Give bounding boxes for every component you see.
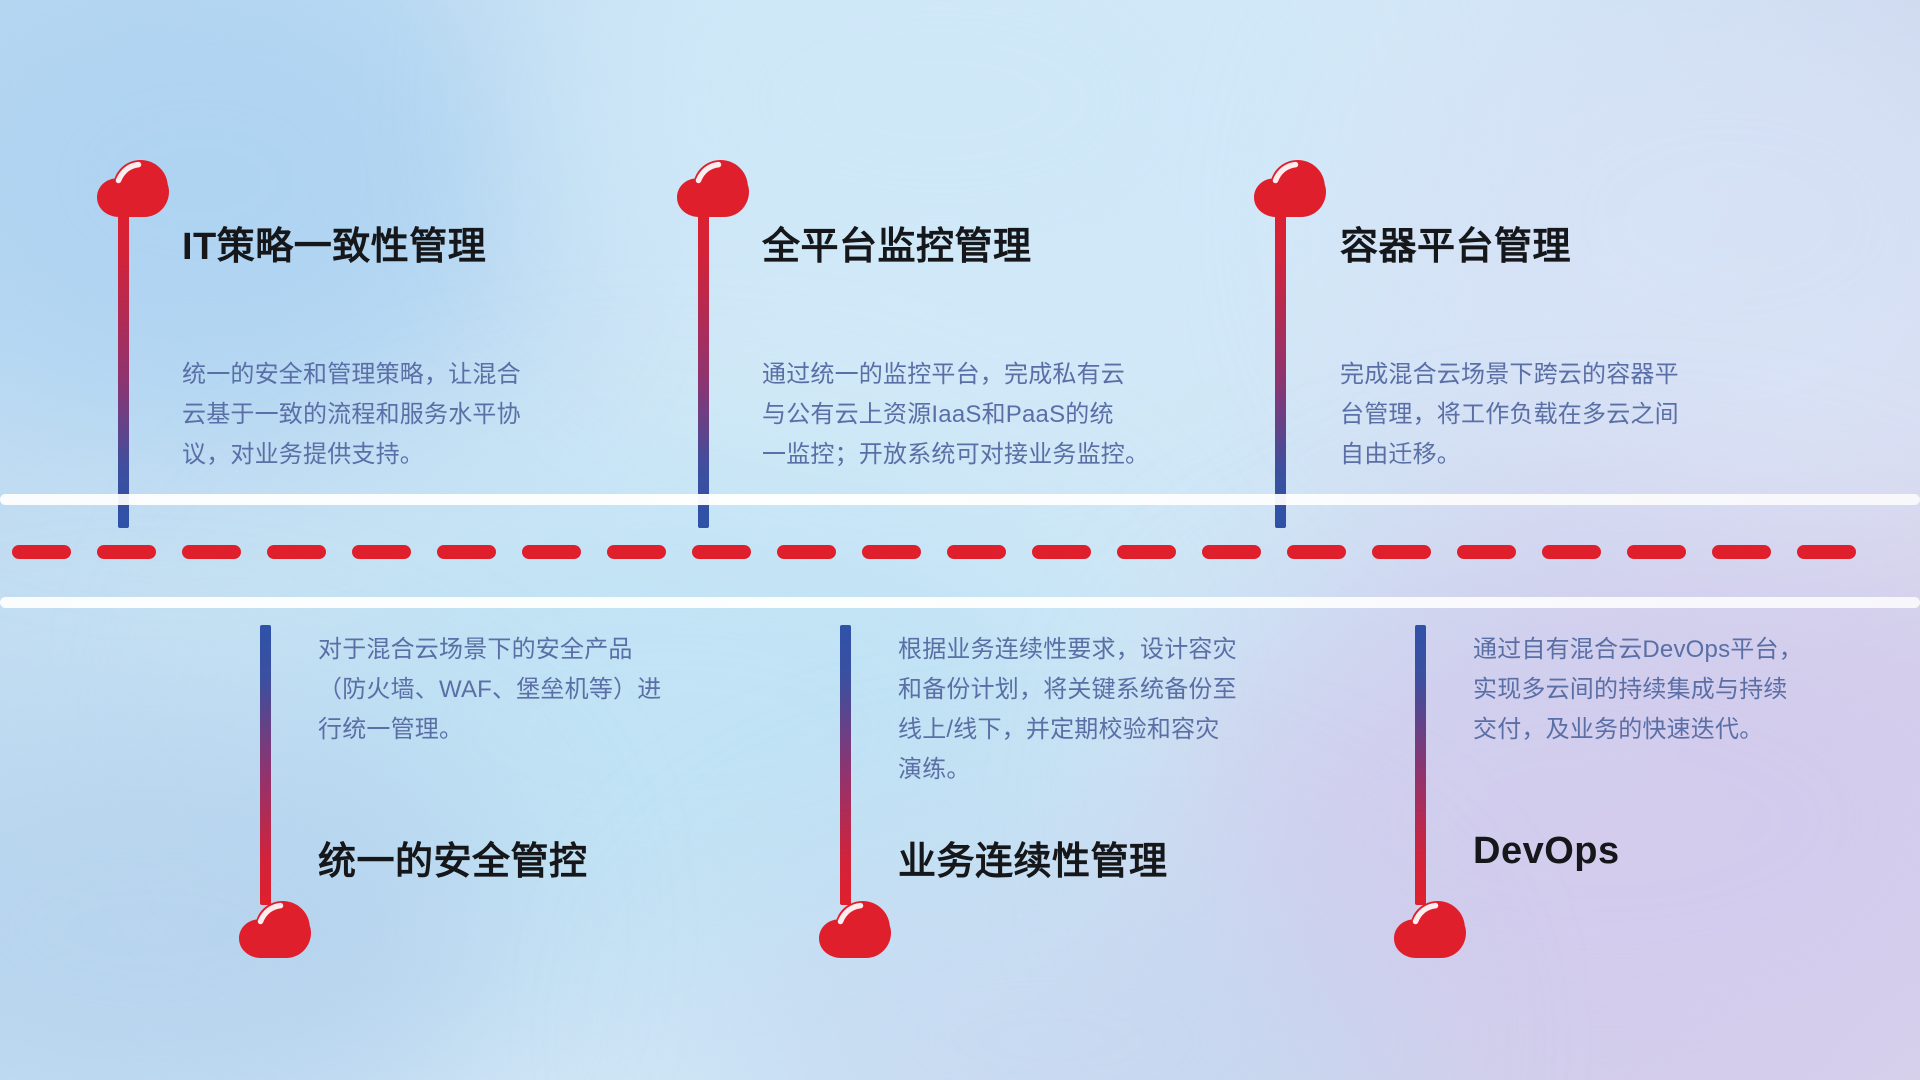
pin-stem: [260, 625, 271, 905]
pin-stem: [840, 625, 851, 905]
divider-dash: [1287, 545, 1346, 559]
divider-dash: [607, 545, 666, 559]
divider-dash: [437, 545, 496, 559]
cloud-pin-icon: [817, 901, 892, 959]
divider-dash: [182, 545, 241, 559]
divider-dashed-line: [0, 545, 1920, 559]
divider-dash: [1712, 545, 1771, 559]
item-body-it-policy-consistency: 统一的安全和管理策略，让混合 云基于一致的流程和服务水平协 议，对业务提供支持。: [182, 355, 612, 475]
item-body-container-platform: 完成混合云场景下跨云的容器平 台管理，将工作负载在多云之间 自由迁移。: [1340, 355, 1780, 475]
divider-dash: [1372, 545, 1431, 559]
pin-stem: [1415, 625, 1426, 905]
item-body-full-platform-monitoring: 通过统一的监控平台，完成私有云 与公有云上资源IaaS和PaaS的统 一监控；开…: [762, 355, 1202, 475]
pin-stem: [698, 198, 709, 528]
divider-dash: [352, 545, 411, 559]
cloud-pin-icon: [1392, 901, 1467, 959]
divider-dash: [1627, 545, 1686, 559]
item-title-unified-security-control: 统一的安全管控: [318, 830, 588, 885]
cloud-pin-icon: [1252, 160, 1327, 218]
divider-dash: [777, 545, 836, 559]
divider-rule-bottom: [0, 597, 1920, 608]
item-title-devops: DevOps: [1473, 830, 1620, 873]
divider-dash: [267, 545, 326, 559]
divider-dash: [522, 545, 581, 559]
divider-dash: [1542, 545, 1601, 559]
divider-dash: [862, 545, 921, 559]
divider-dash: [1032, 545, 1091, 559]
cloud-pin-icon: [675, 160, 750, 218]
divider-dash: [1797, 545, 1856, 559]
item-title-container-platform: 容器平台管理: [1340, 215, 1571, 270]
background-blob: [560, 0, 1320, 360]
divider-dash: [97, 545, 156, 559]
divider-rule-top: [0, 494, 1920, 505]
divider-dash: [1202, 545, 1261, 559]
item-body-devops: 通过自有混合云DevOps平台， 实现多云间的持续集成与持续 交付，及业务的快速…: [1473, 630, 1913, 750]
item-body-business-continuity: 根据业务连续性要求，设计容灾 和备份计划，将关键系统备份至 线上/线下，并定期校…: [898, 630, 1338, 790]
divider-dash: [947, 545, 1006, 559]
pin-stem: [118, 198, 129, 528]
divider-dash: [12, 545, 71, 559]
item-title-business-continuity: 业务连续性管理: [898, 830, 1168, 885]
item-title-full-platform-monitoring: 全平台监控管理: [762, 215, 1032, 270]
cloud-pin-icon: [237, 901, 312, 959]
divider-dash: [692, 545, 751, 559]
divider-dash: [1457, 545, 1516, 559]
item-title-it-policy-consistency: IT策略一致性管理: [182, 215, 486, 270]
background-blob: [0, 700, 500, 1080]
item-body-unified-security-control: 对于混合云场景下的安全产品 （防火墙、WAF、堡垒机等）进 行统一管理。: [318, 630, 748, 750]
divider-dash: [1117, 545, 1176, 559]
cloud-pin-icon: [95, 160, 170, 218]
infographic-canvas: IT策略一致性管理 统一的安全和管理策略，让混合 云基于一致的流程和服务水平协 …: [0, 0, 1920, 1080]
background-blob: [1180, 540, 1920, 1080]
pin-stem: [1275, 198, 1286, 528]
